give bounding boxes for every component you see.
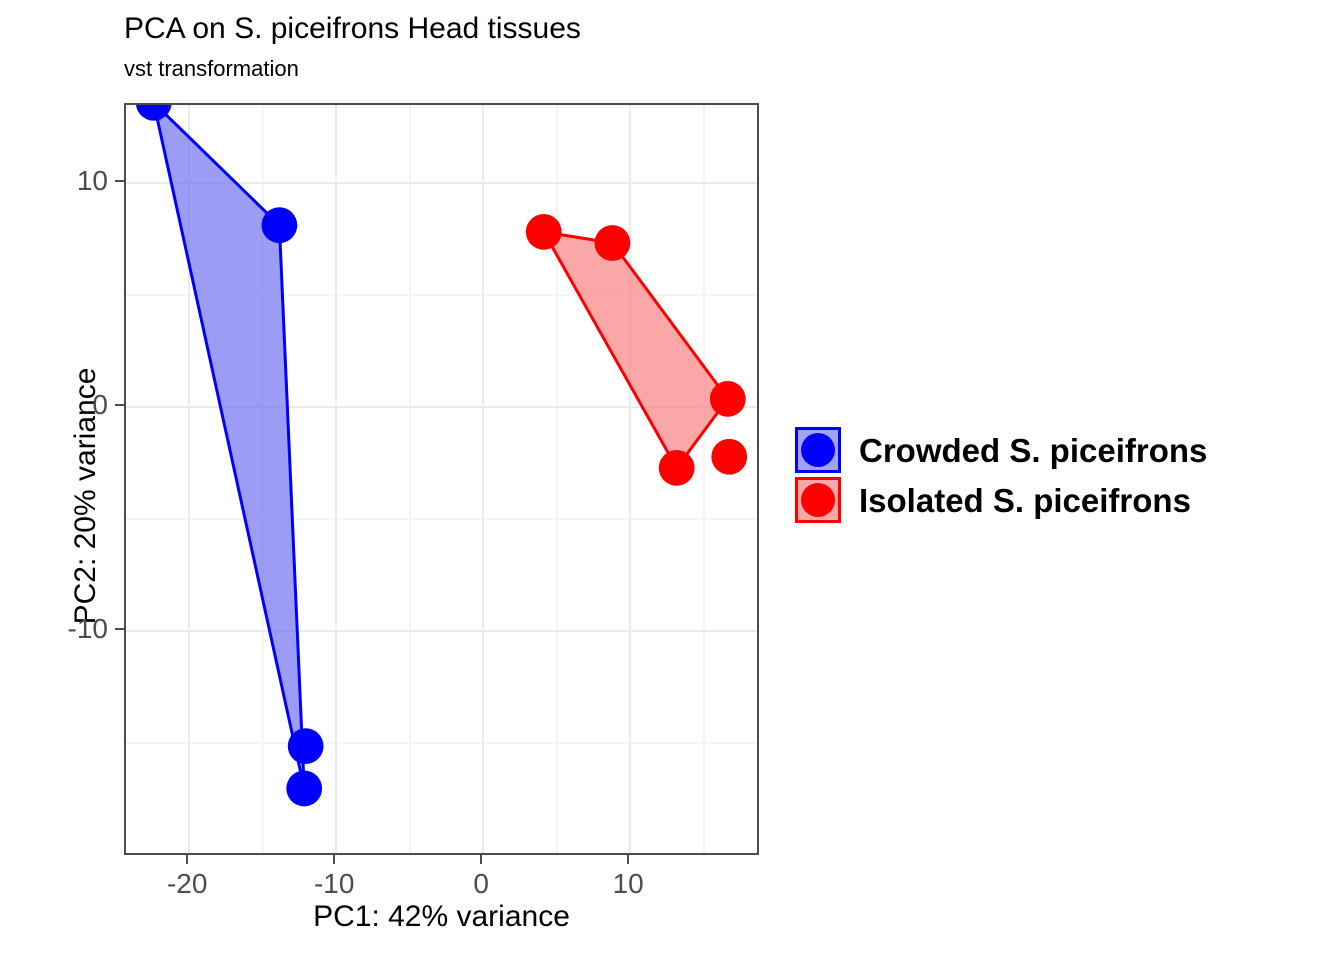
data-point	[710, 381, 746, 417]
x-tick-mark	[333, 855, 335, 864]
x-tick-mark	[480, 855, 482, 864]
x-axis-title: PC1: 42% variance	[124, 900, 759, 934]
y-tick-label: 0	[92, 389, 108, 421]
legend-key-swatch	[795, 427, 841, 473]
x-tick-mark	[186, 855, 188, 864]
data-point	[526, 214, 562, 250]
series-group	[136, 105, 324, 806]
legend-key-dot-icon	[801, 483, 835, 517]
data-point	[288, 728, 324, 764]
data-point	[595, 225, 631, 261]
pca-plot-figure: PCA on S. piceifrons Head tissues vst tr…	[0, 0, 1344, 960]
data-point	[261, 207, 297, 243]
x-tick-label: -10	[314, 868, 354, 900]
legend-item-label: Crowded S. piceifrons	[859, 434, 1207, 467]
plot-subtitle: vst transformation	[124, 56, 299, 82]
legend-item-label: Isolated S. piceifrons	[859, 484, 1191, 517]
legend-key-dot-icon	[801, 433, 835, 467]
x-tick-label: -20	[167, 868, 207, 900]
y-tick-mark	[115, 404, 124, 406]
y-tick-label: 10	[77, 165, 108, 197]
x-tick-mark	[627, 855, 629, 864]
y-tick-label: -10	[68, 613, 108, 645]
y-tick-mark	[115, 628, 124, 630]
legend-item[interactable]: Crowded S. piceifrons	[795, 425, 1207, 475]
legend-item[interactable]: Isolated S. piceifrons	[795, 475, 1207, 525]
x-tick-label: 0	[473, 868, 489, 900]
plot-panel	[124, 103, 759, 855]
page-title: PCA on S. piceifrons Head tissues	[124, 12, 581, 46]
plot-panel-inner	[126, 105, 757, 853]
series-group	[526, 214, 747, 486]
x-tick-label: 10	[613, 868, 644, 900]
y-tick-mark	[115, 180, 124, 182]
data-layer	[126, 105, 757, 853]
legend: Crowded S. piceifronsIsolated S. piceifr…	[795, 425, 1207, 525]
convex-hull-polygon	[544, 232, 728, 468]
y-axis-title: PC2: 20% variance	[69, 120, 103, 872]
data-point	[659, 450, 695, 486]
legend-key-swatch	[795, 477, 841, 523]
data-point	[286, 771, 322, 807]
data-point	[711, 439, 747, 475]
